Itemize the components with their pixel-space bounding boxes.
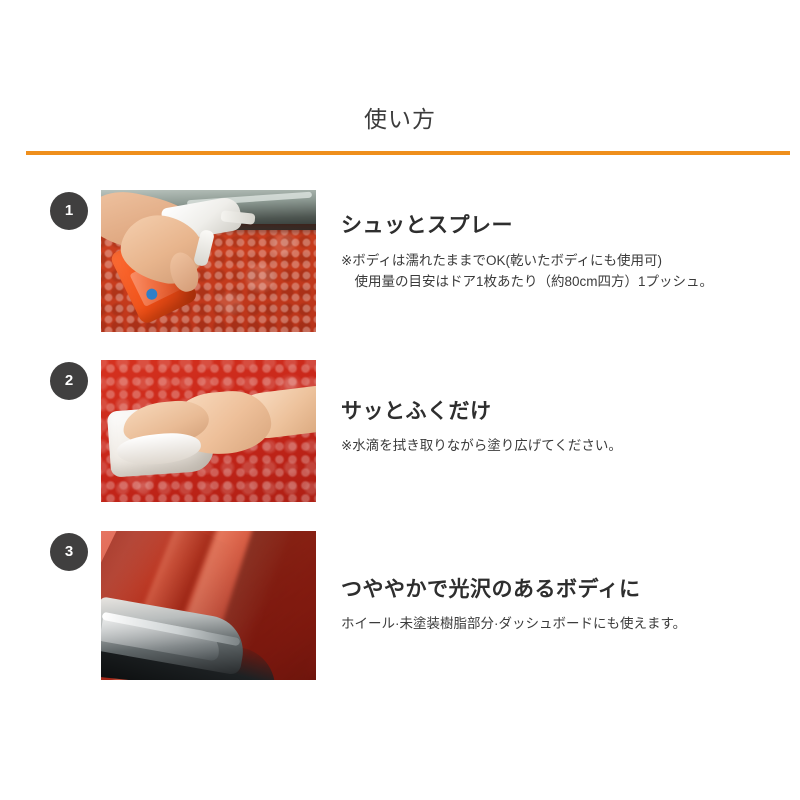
step-photo-spray [101,190,316,332]
step-heading: シュッとスプレー [341,212,771,240]
step-text-block: シュッとスプレー ※ボディは濡れたままでOK(乾いたボディにも使用可) 使用量の… [341,212,771,292]
title-divider [26,151,790,155]
step-heading: つややかで光沢のあるボディに [341,576,771,604]
step-body-text: ※ボディは濡れたままでOK(乾いたボディにも使用可) 使用量の目安はドア1枚あた… [341,250,771,292]
step-body-text: ホイール·未塗装樹脂部分·ダッシュボードにも使えます。 [341,613,771,634]
step-heading: サッとふくだけ [341,398,771,426]
step-text-block: サッとふくだけ ※水滴を拭き取りながら塗り広げてください。 [341,398,771,456]
step-number-badge: 2 [50,362,88,400]
step-body-text: ※水滴を拭き取りながら塗り広げてください。 [341,435,771,456]
step-photo-glossy-body [101,531,316,680]
step-photo-wipe [101,360,316,502]
page-title: 使い方 [0,104,800,134]
step-number-badge: 3 [50,533,88,571]
step-number-badge: 1 [50,192,88,230]
step-text-block: つややかで光沢のあるボディに ホイール·未塗装樹脂部分·ダッシュボードにも使えま… [341,576,771,634]
